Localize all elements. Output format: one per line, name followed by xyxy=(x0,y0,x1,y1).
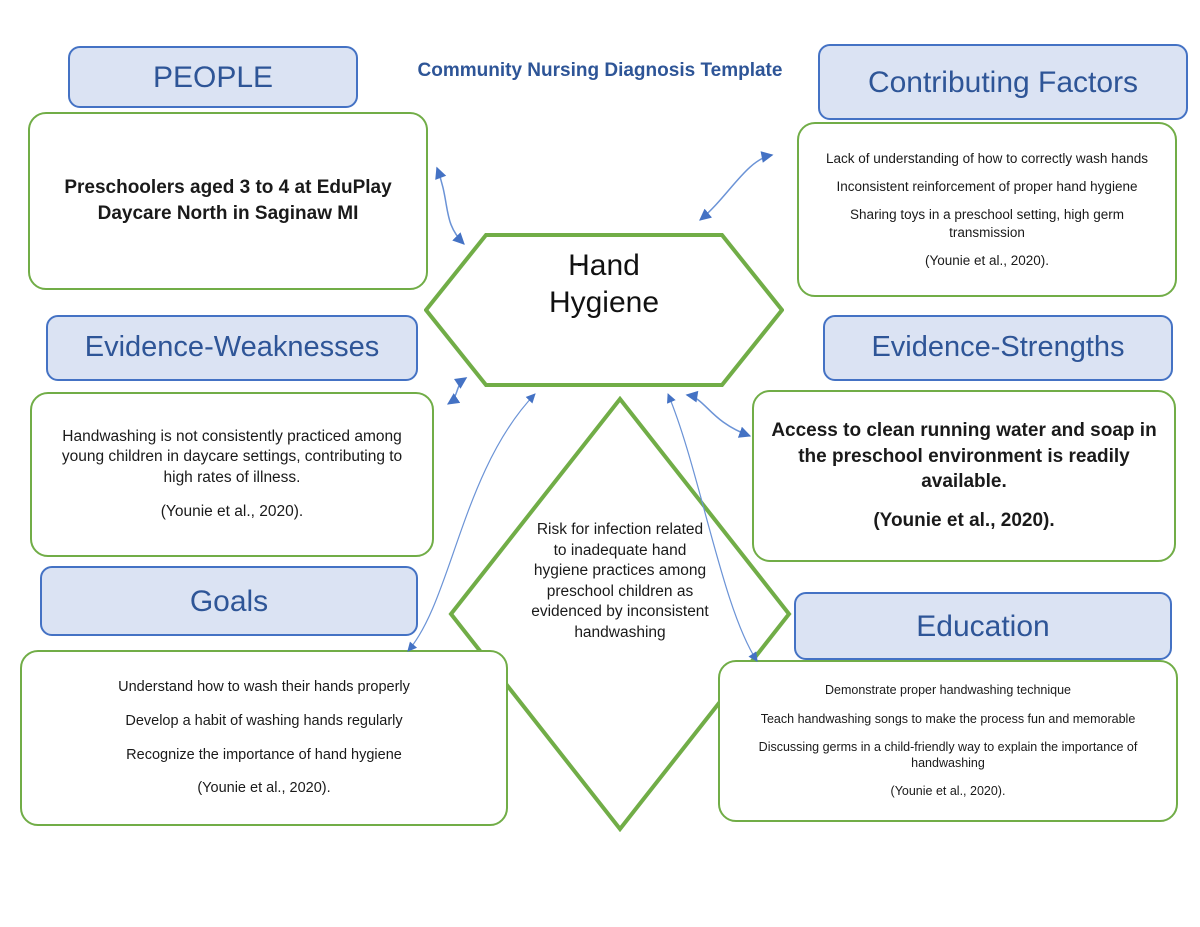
section-card-people: Preschoolers aged 3 to 4 at EduPlay Dayc… xyxy=(28,112,428,290)
section-card-contributing-factors: Lack of understanding of how to correctl… xyxy=(797,122,1177,297)
goals-line-0: Understand how to wash their hands prope… xyxy=(118,678,410,697)
center-hexagon-shape xyxy=(424,232,784,388)
section-card-evidence-weaknesses: Handwashing is not consistently practice… xyxy=(30,392,434,557)
education-line-2: Discussing germs in a child-friendly way… xyxy=(732,739,1164,772)
education-line-3: (Younie et al., 2020). xyxy=(891,783,1006,799)
section-card-goals: Understand how to wash their hands prope… xyxy=(20,650,508,826)
weaknesses-line-0: Handwashing is not consistently practice… xyxy=(48,427,416,488)
hexagon-dot xyxy=(578,263,581,266)
section-header-people[interactable]: PEOPLE xyxy=(68,46,358,108)
education-line-1: Teach handwashing songs to make the proc… xyxy=(761,711,1136,727)
goals-line-2: Recognize the importance of hand hygiene xyxy=(126,746,402,765)
strengths-line-1: (Younie et al., 2020). xyxy=(873,508,1054,533)
strengths-line-0: Access to clean running water and soap i… xyxy=(770,418,1158,494)
section-card-education: Demonstrate proper handwashing technique… xyxy=(718,660,1178,822)
goals-line-3: (Younie et al., 2020). xyxy=(197,779,330,798)
contributing-line-3: (Younie et al., 2020). xyxy=(925,252,1049,269)
goals-line-1: Develop a habit of washing hands regular… xyxy=(125,712,402,731)
contributing-line-0: Lack of understanding of how to correctl… xyxy=(826,150,1148,167)
connector-contributing-to-center xyxy=(700,155,772,220)
section-card-evidence-strengths: Access to clean running water and soap i… xyxy=(752,390,1176,562)
section-header-evidence-strengths[interactable]: Evidence-Strengths xyxy=(823,315,1173,381)
section-header-contributing-factors[interactable]: Contributing Factors xyxy=(818,44,1188,120)
section-header-goals[interactable]: Goals xyxy=(40,566,418,636)
contributing-line-1: Inconsistent reinforcement of proper han… xyxy=(837,178,1138,195)
section-header-education[interactable]: Education xyxy=(794,592,1172,660)
education-line-0: Demonstrate proper handwashing technique xyxy=(825,682,1071,698)
page-title: Community Nursing Diagnosis Template xyxy=(398,60,802,82)
weaknesses-line-1: (Younie et al., 2020). xyxy=(161,502,303,522)
contributing-line-2: Sharing toys in a preschool setting, hig… xyxy=(813,206,1161,241)
section-header-evidence-weaknesses[interactable]: Evidence-Weaknesses xyxy=(46,315,418,381)
people-line-0: Preschoolers aged 3 to 4 at EduPlay Dayc… xyxy=(30,175,426,227)
diagram-canvas: Community Nursing Diagnosis Template Han… xyxy=(0,0,1200,927)
